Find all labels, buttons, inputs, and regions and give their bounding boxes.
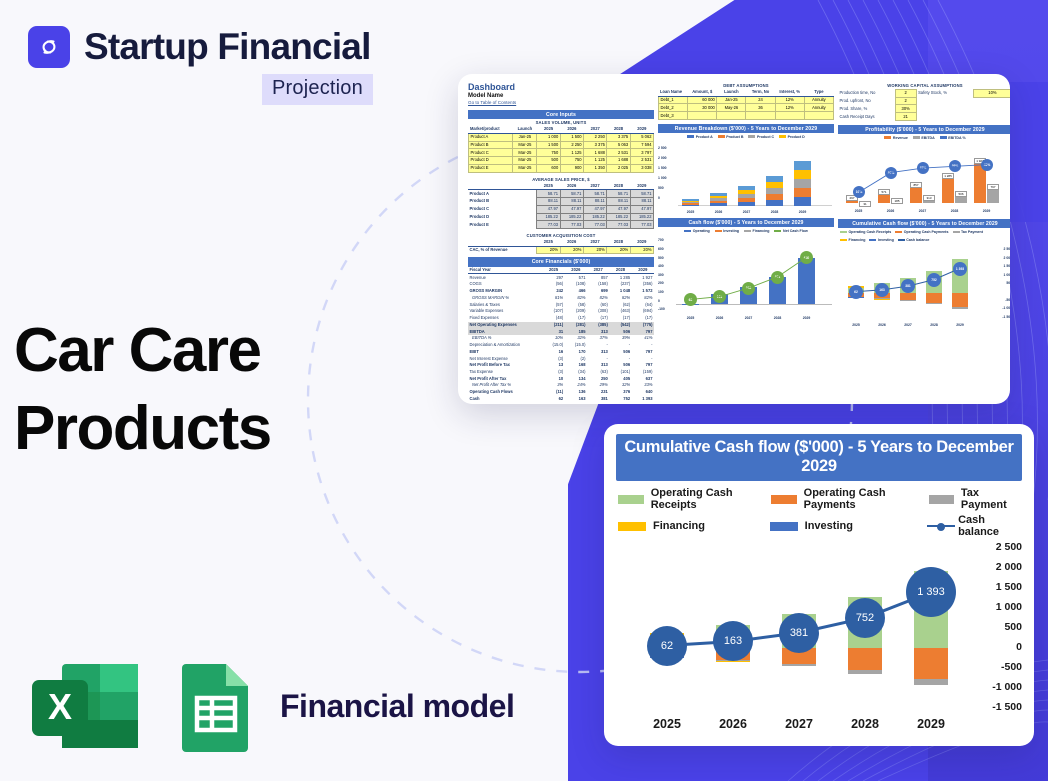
row-value: 637 [632,375,654,382]
bar-segment [794,179,811,188]
series-line [658,234,834,320]
row-value: 506 [609,328,631,335]
cac-header: CUSTOMER ACQUISITION COST [468,232,654,239]
table-row: Net Operating Expenses(211)(281)(385)(54… [468,322,654,329]
table-row: Product E77.0377.0377.0377.0377.03 [468,221,654,229]
col-header: Market/product [469,126,513,133]
row-value: (34) [565,369,587,376]
format-badges: X Financial model [30,660,514,752]
row-value: 33% [632,382,654,389]
row-value: (56) [542,281,564,288]
legend-item-cash-balance: Cash balance [927,514,1020,538]
row-value: 466 [565,288,587,295]
legend-swatch [618,495,644,504]
row-value: 640 [632,389,654,396]
revenue-breakdown-title: Revenue Breakdown ($'000) - 5 Years to D… [658,124,834,133]
table-row: COGS(56)(108)(158)(237)(356) [468,281,654,288]
legend-item-investing: Investing [770,514,927,538]
bar-segment [682,205,699,206]
page-title-line2: Products [14,390,414,468]
row-value: (17) [587,315,609,322]
table-row: EBITDA %10%32%37%39%41% [468,335,654,342]
table-row: Debt_160 000Jan-252412%Annuity [659,96,834,104]
row-value: (209) [565,308,587,315]
row-value: (17) [609,315,631,322]
table-row: GROSS MARGIN2424666991 0481 572 [468,288,654,295]
average-price-table: 2025 2026 2027 2028 2029 Product A58.715… [468,183,654,229]
col-header: 2028 [607,126,630,133]
legend-swatch [770,522,798,531]
row-value: (694) [632,308,654,315]
row-value: 62 [542,396,564,403]
row-value: 1 927 [632,274,654,281]
toc-link[interactable]: Go to Table of Contents [468,100,654,105]
bar-segment [766,188,783,194]
row-label: Depreciation & Amortization [468,342,542,349]
legend-item: Tax Payment [953,230,983,234]
table-row: Product D185.22185.22185.22185.22185.22 [468,213,654,221]
cash-flow-chart: Operating Investing Financing Net Cash F… [658,229,834,321]
microsoft-excel-icon: X [30,660,140,752]
row-value: (158) [587,281,609,288]
debt-assumptions-table: Loan Name Amount, $ Launch Term, No Inte… [658,89,834,120]
debt-assumptions-header: DEBT ASSUMPTIONS [658,82,834,89]
row-label: EBITDA [468,328,542,335]
row-label: Net Interest Expense [468,355,542,362]
table-row: Product C47.9747.9747.9747.9747.97 [468,205,654,213]
row-value: - [587,342,609,349]
row-label: Net Profit After Tax % [468,382,542,389]
row-value: 231 [587,389,609,396]
row-value: 32% [609,382,631,389]
row-value: 185 [565,328,587,335]
legend-swatch [771,495,797,504]
table-row: Cash Receipt Days21 [838,113,1010,121]
row-label: Tax Expense [468,369,542,376]
row-value: 405 [609,375,631,382]
cash-balance-marker: 752 [927,273,941,287]
legend-item: Net Cash Flow [774,229,807,233]
row-label: GROSS MARGIN [468,288,542,295]
table-row: Product DMar-255007501 1251 6882 531 [469,157,654,165]
bar-segment [710,203,727,206]
table-row: EBITDA31185313506797 [468,328,654,335]
format-badges-label: Financial model [280,688,514,725]
table-row: Debt_230 000May-263612%Annuity [659,104,834,112]
bar-segment [682,199,699,200]
brand-logo-icon [28,26,70,68]
revenue-breakdown-legend: Product A Product B Product C Product D [658,135,834,139]
table-row: Product A58.7158.7158.7158.7158.71 [468,190,654,198]
row-value: (62) [609,301,631,308]
dashboard-title: Dashboard [468,82,654,92]
row-label: Cash [468,396,542,403]
dashboard-middle-column: DEBT ASSUMPTIONS Loan Name Amount, $ Lau… [658,82,834,320]
table-row: Product BMar-251 5002 2503 3755 0637 594 [469,141,654,149]
row-value: 506 [609,348,631,355]
google-sheets-icon [180,660,252,752]
legend-line-marker [927,522,951,531]
row-label: Net Profit After Tax [468,375,542,382]
row-value: 376 [609,389,631,396]
row-value: (542) [609,322,631,329]
row-value: 297 [542,274,564,281]
table-header-row: Fiscal Year 2025 2026 2027 2028 2029 [468,267,654,274]
bar-segment [738,202,755,206]
profitability-plot: 2973110%202557118532%202685731337%20271 … [838,141,1010,215]
cash-balance-node: 62 [647,626,687,666]
cash-balance-node: 1 393 [906,567,956,617]
bar-segment [794,161,811,170]
row-label: Operating Cash Flows [468,389,542,396]
dashboard-subtitle: Model Name [468,93,654,99]
page-title: Car Care Products [14,312,414,468]
row-value: 39% [609,335,631,342]
row-value: 381 [587,396,609,403]
col-header: Launch [513,126,537,133]
row-value: - [587,355,609,362]
table-row: GROSS MARGIN %81%82%82%82%82% [468,295,654,302]
profitability-chart: Revenue EBITDA EBITDA % 2973110%20255711… [838,136,1010,216]
row-value: - [609,342,631,349]
row-value: 797 [632,328,654,335]
table-header-row: Loan Name Amount, $ Launch Term, No Inte… [659,89,834,96]
row-value: 3% [542,382,564,389]
row-value: (107) [542,308,564,315]
bar-segment [682,201,699,202]
revenue-breakdown-plot: 2 5002 0001 5001 00050002025202620272028… [658,140,834,214]
table-row: Net Profit After Tax10134250405637 [468,375,654,382]
row-value: - [609,355,631,362]
row-value: (63) [587,369,609,376]
row-value: 32% [565,335,587,342]
row-value: 313 [587,328,609,335]
col-header: 2025 [537,126,560,133]
row-value: (64) [632,301,654,308]
sales-volume-table: Market/product Launch 2025 2026 2027 202… [468,126,654,172]
cash-flow-title: Cash flow ($'000) - 5 Years to December … [658,218,834,227]
row-value: (775) [632,322,654,329]
cumulative-mini-title: Cumulative Cash flow ($'000) - 5 Years t… [838,219,1010,228]
row-value: 1 285 [609,274,631,281]
row-value: 797 [632,348,654,355]
table-row: Net Profit Before Tax13168313506797 [468,362,654,369]
row-value: (159) [632,369,654,376]
row-label: Variable Expenses [468,308,542,315]
table-header-row: 2025 2026 2027 2028 2029 [468,183,654,190]
cash-balance-node: 752 [845,598,885,638]
core-financials-table: Fiscal Year 2025 2026 2027 2028 2029 Rev… [468,267,654,403]
row-value: (11) [542,389,564,396]
cac-table: 2025 2026 2027 2028 2029 CAC, % of Reven… [468,239,654,254]
table-row: Product B88.1188.1188.1188.1188.11 [468,198,654,206]
row-value: 571 [565,274,587,281]
row-label: COGS [468,281,542,288]
page-title-line1: Car Care [14,312,414,390]
poster-canvas: Startup Financial Projection Car Care Pr… [0,0,1048,781]
table-row: Depreciation & Amortization(15.0)(15.0)-… [468,342,654,349]
table-row: Product AJan-251 0001 5002 2503 3755 062 [469,133,654,141]
row-value: 1 393 [632,396,654,403]
bar-segment [710,196,727,199]
table-row: Fixed Expenses(48)(17)(17)(17)(17) [468,315,654,322]
row-value: 10% [542,335,564,342]
col-header: 2026 [560,126,583,133]
bar-segment [794,197,811,206]
chart-title: Cumulative Cash flow ($'000) - 5 Years t… [616,434,1022,481]
series-line [838,141,1010,215]
row-value: 168 [565,362,587,369]
series-line [838,243,1010,327]
profitability-title: Profitability ($'000) - 5 Years to Decem… [838,125,1010,134]
legend-item: Revenue [884,136,907,140]
row-value: (385) [587,322,609,329]
table-row: Prod. Share, %30% [838,105,1010,113]
bar-segment [738,198,755,202]
working-capital-header: WORKING CAPITAL ASSUMPTIONS [838,82,1010,89]
row-value: 250 [587,375,609,382]
row-value: (15.0) [565,342,587,349]
row-value: 1 048 [609,288,631,295]
table-row: EBIT16170313506797 [468,348,654,355]
core-financials-header: Core Financials ($'000) [468,257,654,266]
row-value: 82% [609,295,631,302]
cumulative-mini-plot: 2 5002 0001 5001 0005000-500-1 000-1 500… [838,243,1010,327]
table-row: Revenue2975718571 2851 927 [468,274,654,281]
row-value: (308) [587,308,609,315]
row-value: - [632,342,654,349]
legend-swatch [929,495,954,504]
bar-segment [794,188,811,197]
row-value: 170 [565,348,587,355]
row-value: 81% [542,295,564,302]
revenue-breakdown-chart: Product A Product B Product C Product D … [658,135,834,215]
table-row: Net Profit After Tax %3%24%29%32%33% [468,382,654,389]
dashboard-right-column: WORKING CAPITAL ASSUMPTIONS Production t… [838,82,1010,327]
row-value: 29% [587,382,609,389]
bar-segment [766,182,783,188]
row-value: 24% [565,382,587,389]
cash-flow-legend: Operating Investing Financing Net Cash F… [658,229,834,233]
infinity-loop-icon [36,34,62,60]
legend-item-operating-cash-payments: Operating Cash Payments [771,487,929,511]
row-value: 10 [542,375,564,382]
row-value: 136 [565,389,587,396]
legend-item: Financing [744,229,769,233]
bar-segment [738,190,755,194]
table-row: Cash621633817521 393 [468,396,654,403]
col-header: 2027 [584,126,607,133]
table-row: Prod. upfront, No2 [838,97,1010,105]
row-value: 1 572 [632,288,654,295]
table-row: Operating Cash Flows(11)136231376640 [468,389,654,396]
row-label: Fixed Expenses [468,315,542,322]
legend-item-tax-payment: Tax Payment [929,487,1020,511]
brand-badge: Projection [262,74,373,105]
bar-segment [710,201,727,204]
row-value: 16 [542,348,564,355]
chart-plot-area: 2 5002 0001 5001 0005000-500-1 000-1 500… [616,544,1022,730]
row-value: (17) [632,315,654,322]
row-value: (237) [609,281,631,288]
row-value: (48) [542,315,564,322]
brand-name: Startup Financial [84,26,371,68]
legend-item-financing: Financing [618,514,770,538]
row-value: 41% [632,335,654,342]
row-value: (101) [609,369,631,376]
row-value: (3) [542,369,564,376]
row-value: (58) [565,301,587,308]
bar-segment [766,176,783,182]
row-value: 82% [587,295,609,302]
row-value: - [632,355,654,362]
table-row: CAC, % of Revenue 20% 20% 20% 20% 20% [468,246,654,254]
bar-segment [738,194,755,198]
row-value: 313 [587,348,609,355]
row-value: 13 [542,362,564,369]
bar-segment [682,203,699,204]
row-label: Net Operating Expenses [468,322,542,329]
row-value: (3) [542,355,564,362]
bar-segment [766,194,783,200]
legend-item: Operating Cash Payments [895,230,948,234]
svg-text:X: X [48,686,72,727]
bar-segment [738,186,755,190]
row-label: EBITDA % [468,335,542,342]
bar-segment [766,200,783,206]
row-value: 699 [587,288,609,295]
table-row: Net Interest Expense(3)(2)--- [468,355,654,362]
bar-segment [682,202,699,203]
dashboard-screenshot-card[interactable]: Dashboard Model Name Go to Table of Cont… [458,74,1010,404]
row-value: (57) [542,301,564,308]
cash-balance-marker: 1 393 [953,262,967,276]
row-label: Revenue [468,274,542,281]
row-value: 37% [587,335,609,342]
legend-item: Operating [684,229,709,233]
bar-segment [710,193,727,196]
table-row: Variable Expenses(107)(209)(308)(463)(69… [468,308,654,315]
table-header-row: Market/product Launch 2025 2026 2027 202… [469,126,654,133]
row-value: 242 [542,288,564,295]
brand-header: Startup Financial [28,26,371,68]
row-value: (356) [632,281,654,288]
row-value: (15.0) [542,342,564,349]
row-value: (60) [587,301,609,308]
legend-item: Financing [840,238,865,242]
core-inputs-header: Core Inputs [468,110,654,119]
row-value: (281) [565,322,587,329]
row-label: GROSS MARGIN % [468,295,542,302]
table-row: Debt_3 [659,112,834,120]
profitability-legend: Revenue EBITDA EBITDA % [838,136,1010,140]
row-label: Net Profit Before Tax [468,362,542,369]
row-value: 752 [609,396,631,403]
dashboard-left-column: Dashboard Model Name Go to Table of Cont… [468,82,654,402]
row-value: (463) [609,308,631,315]
row-value: (2) [565,355,587,362]
table-header-row: 2025 2026 2027 2028 2029 [468,239,654,246]
legend-item: Product B [718,135,744,139]
row-value: 797 [632,362,654,369]
row-value: (108) [565,281,587,288]
legend-item: Investing [869,238,893,242]
avg-price-header: AVERAGE SALES PRICE, $ [468,176,654,183]
legend-item: Product C [748,135,774,139]
cumulative-mini-legend: Operating Cash Receipts Operating Cash P… [838,230,1010,242]
legend-item-operating-cash-receipts: Operating Cash Receipts [618,487,771,511]
cash-balance-marker: 62 [849,285,863,299]
bar-segment [710,198,727,201]
legend-item: Cash balance [898,238,930,242]
working-capital-table: Production time, No2Safety Stock, %10% P… [838,89,1010,121]
row-value: 31 [542,328,564,335]
table-row: Product CMar-257501 1251 6882 5313 797 [469,149,654,157]
row-label: Salaries & Taxes [468,301,542,308]
row-value: 313 [587,362,609,369]
legend-item: Product A [687,135,713,139]
legend-item: Investing [715,229,739,233]
table-row: Salaries & Taxes(57)(58)(60)(62)(64) [468,301,654,308]
legend-item: EBITDA % [940,136,966,140]
row-value: 506 [609,362,631,369]
legend-item: EBITDA [913,136,935,140]
cash-balance-node: 381 [779,613,819,653]
cash-flow-plot: 7006005004003002001000-10062202510120262… [658,234,834,320]
table-row: Product EMar-256009001 3502 0253 038 [469,164,654,172]
row-value: 163 [565,396,587,403]
bar-segment [794,170,811,179]
table-row: Tax Expense(3)(34)(63)(101)(159) [468,369,654,376]
sales-volume-header: SALES VOLUME, UNITS [468,119,654,126]
col-header: 2029 [630,126,653,133]
chart-legend: Operating Cash Receipts Operating Cash P… [618,487,1020,538]
row-value: (17) [565,315,587,322]
row-value: 134 [565,375,587,382]
cumulative-mini-chart: Operating Cash Receipts Operating Cash P… [838,230,1010,328]
legend-item: Operating Cash Receipts [840,230,891,234]
table-row: Production time, No2Safety Stock, %10% [838,90,1010,98]
row-value: 857 [587,274,609,281]
row-value: (211) [542,322,564,329]
cumulative-cashflow-card[interactable]: Cumulative Cash flow ($'000) - 5 Years t… [604,424,1034,746]
legend-item: Product D [779,135,805,139]
legend-swatch [618,522,646,531]
row-value: 82% [632,295,654,302]
row-value: 82% [565,295,587,302]
dashboard-sheet: Dashboard Model Name Go to Table of Cont… [464,80,1004,398]
row-label: EBIT [468,348,542,355]
